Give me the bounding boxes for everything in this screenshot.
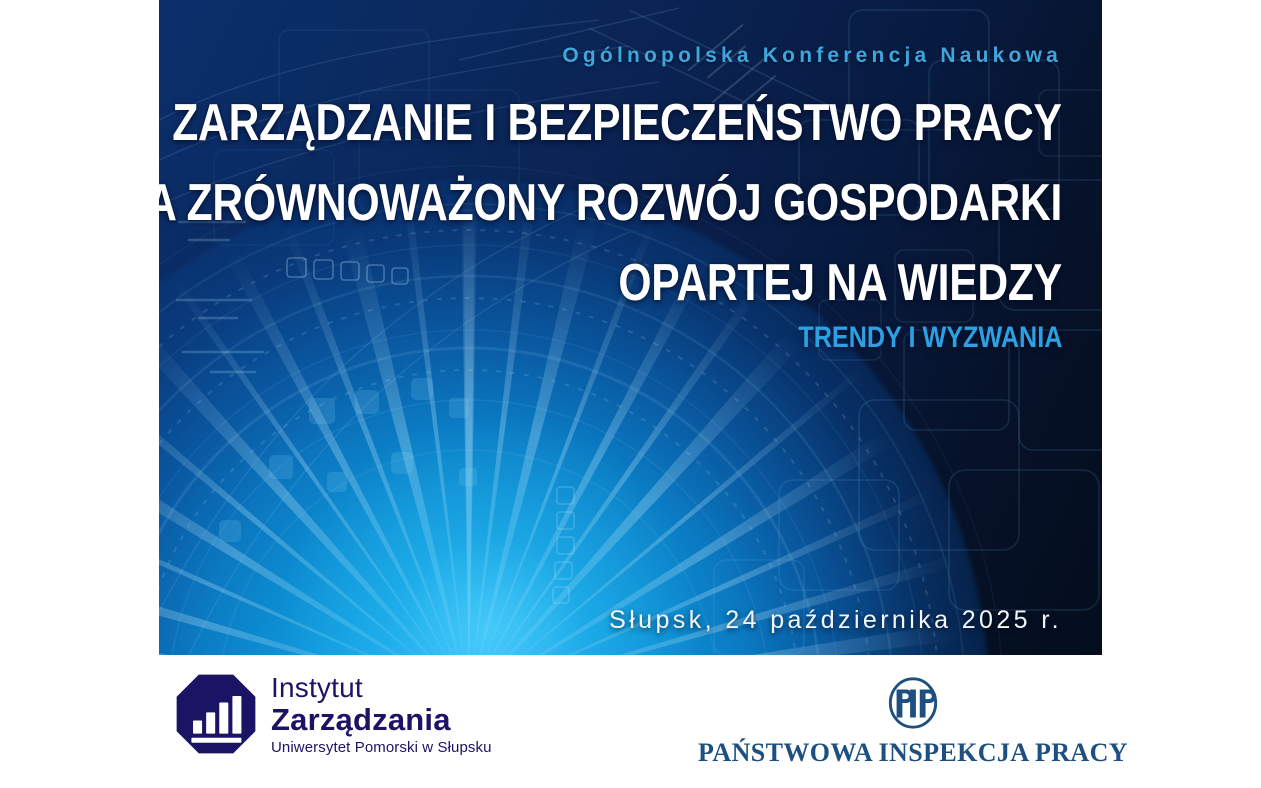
poster-title-line-2: A ZRÓWNOWAŻONY ROZWÓJ GOSPODARKI xyxy=(159,173,1062,233)
pip-logo: PAŃSTWOWA INSPEKCJA PRACY xyxy=(723,675,1103,768)
university-logo: Instytut Zarządzania Uniwersytet Pomorsk… xyxy=(175,673,492,755)
university-logo-line-1: Instytut xyxy=(271,674,492,702)
bar-chart-octagon-icon xyxy=(175,673,257,755)
pip-logo-text: PAŃSTWOWA INSPEKCJA PRACY xyxy=(698,738,1128,768)
poster-title-line-3: OPARTEJ NA WIEDZY xyxy=(618,253,1062,313)
poster-title-line-1: ZARZĄDZANIE I BEZPIECZEŃSTWO PRACY xyxy=(173,93,1062,153)
university-logo-line-2: Zarządzania xyxy=(271,704,492,735)
hero-banner: Ogólnopolska Konferencja Naukowa ZARZĄDZ… xyxy=(159,0,1102,655)
conference-kicker: Ogólnopolska Konferencja Naukowa xyxy=(562,44,1062,68)
footer-logo-bar: Instytut Zarządzania Uniwersytet Pomorsk… xyxy=(0,655,1261,788)
poster-date-location: Słupsk, 24 października 2025 r. xyxy=(609,606,1062,635)
poster-text-layer: Ogólnopolska Konferencja Naukowa ZARZĄDZ… xyxy=(159,0,1102,655)
pip-monogram-icon xyxy=(884,675,942,731)
conference-poster: Ogólnopolska Konferencja Naukowa ZARZĄDZ… xyxy=(0,0,1261,788)
university-logo-text: Instytut Zarządzania Uniwersytet Pomorsk… xyxy=(271,674,492,755)
poster-subtitle: TRENDY I WYZWANIA xyxy=(798,321,1062,355)
university-logo-line-3: Uniwersytet Pomorski w Słupsku xyxy=(271,740,492,755)
